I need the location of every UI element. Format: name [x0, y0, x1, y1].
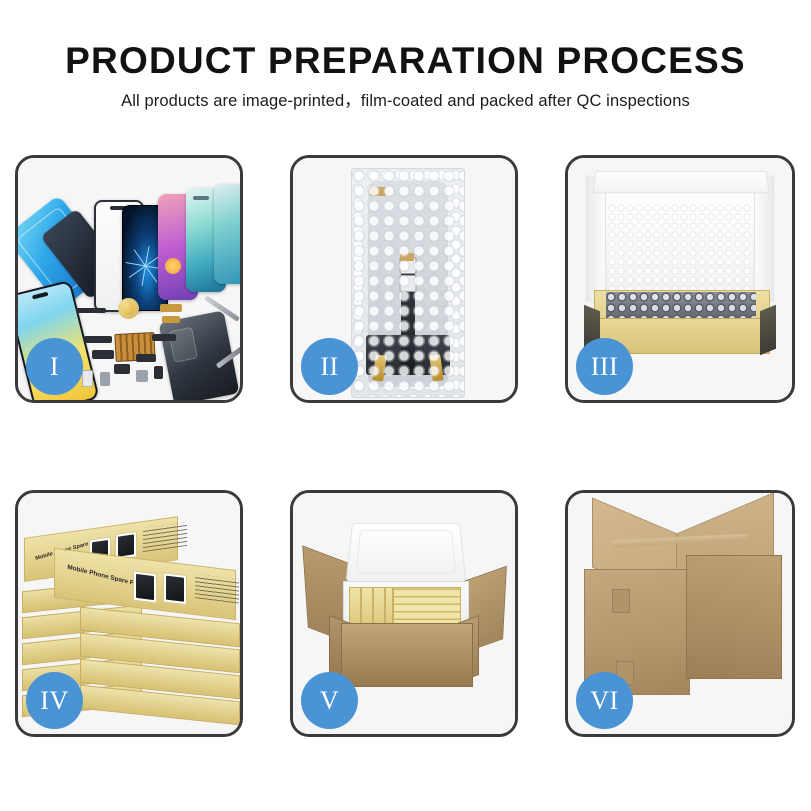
step-badge-2: II [301, 338, 358, 395]
box-left-flap-icon [586, 175, 606, 307]
product-preparation-process-page: PRODUCT PREPARATION PROCESS All products… [0, 0, 811, 811]
yellow-box-icon [385, 587, 393, 627]
step-badge-6: VI [576, 672, 633, 729]
process-step-1[interactable]: I [15, 155, 243, 403]
spare-part-icon [114, 364, 130, 374]
spec-lines-icon [195, 574, 239, 603]
product-swatch-icon [163, 572, 187, 605]
spare-part-icon [162, 316, 180, 323]
foam-lid-icon [346, 523, 467, 582]
ic-chip-icon [400, 275, 417, 292]
spare-part-icon [136, 370, 148, 382]
spare-part-icon [82, 370, 93, 387]
yellow-box-icon [361, 587, 373, 627]
product-swatch-icon [133, 571, 157, 604]
yellow-box-row-icon [393, 587, 461, 627]
spare-part-icon [152, 334, 176, 341]
process-step-4[interactable]: Mobile Phone Spare Parts Mobile Phone Sp… [15, 490, 243, 737]
spare-part-icon [84, 336, 112, 343]
spare-part-icon [76, 308, 106, 313]
tray-right-corner-icon [760, 305, 776, 355]
yellow-box-icon [349, 587, 361, 627]
process-step-2[interactable]: II [290, 155, 518, 403]
white-foam-sheet-icon [608, 204, 752, 296]
step-badge-1: I [26, 338, 83, 395]
spare-part-icon [154, 366, 163, 379]
process-step-6[interactable]: VI [565, 490, 795, 737]
silver-phone-icon [214, 184, 243, 284]
copper-coil-icon [118, 298, 139, 319]
box-right-flap-icon [754, 175, 774, 307]
tape-strip-icon [400, 253, 414, 261]
spare-part-icon [136, 354, 156, 362]
box-lid-icon [592, 171, 769, 193]
spec-lines-icon [143, 522, 187, 552]
spare-part-icon [92, 350, 114, 359]
process-step-grid: I II [0, 0, 811, 811]
process-step-3[interactable]: III [565, 155, 795, 403]
bubble-wrap-bag-icon [351, 168, 465, 398]
tape-strip-icon [370, 187, 386, 196]
yellow-box-icon [373, 587, 385, 627]
carton-front-icon [341, 623, 473, 687]
carton-side-face-icon [686, 555, 782, 679]
step-badge-3: III [576, 338, 633, 395]
spare-part-icon [100, 372, 110, 386]
carton-tape-patch-icon [612, 589, 630, 613]
process-step-5[interactable]: V [290, 490, 518, 737]
step-badge-4: IV [26, 672, 83, 729]
spare-part-icon [160, 304, 182, 312]
step-badge-5: V [301, 672, 358, 729]
